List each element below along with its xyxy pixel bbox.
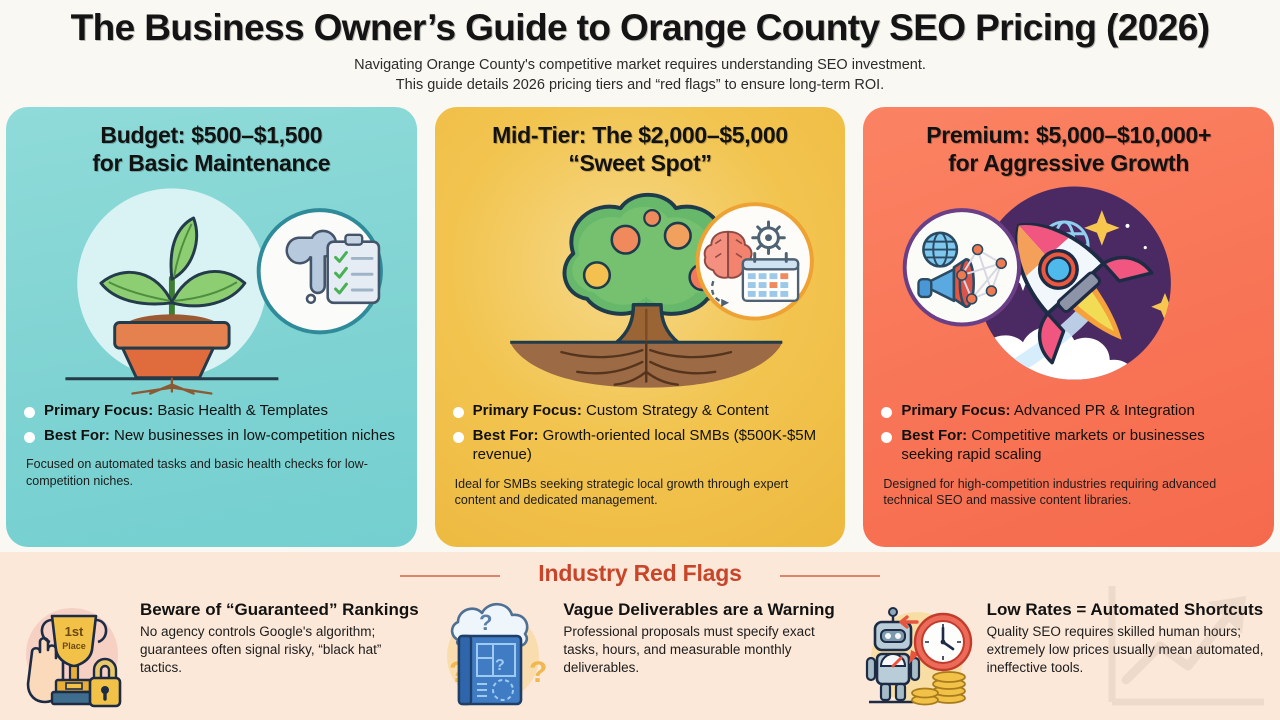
- red-flag-text: Beware of “Guaranteed” Rankings No agenc…: [140, 596, 423, 714]
- clipboard-icon: [328, 235, 379, 303]
- red-flags-title: Industry Red Flags: [538, 560, 741, 587]
- bullet-label: Best For:: [901, 427, 967, 444]
- bullet-label: Primary Focus:: [44, 402, 153, 419]
- tier-title-premium: Premium: $5,000–$10,000+ for Aggressive …: [881, 121, 1256, 181]
- bullet-value: Basic Health & Templates: [153, 402, 328, 419]
- tier-bullets-mid: Primary Focus: Custom Strategy & Content…: [453, 401, 828, 470]
- bullet-label: Primary Focus:: [473, 402, 582, 419]
- red-flag-item-guaranteed-rankings: 1st Place Beware of “Guaranteed” Ra: [10, 596, 423, 714]
- bullet-value: Advanced PR & Integration: [1011, 402, 1195, 419]
- red-flags-list: 1st Place Beware of “Guaranteed” Ra: [0, 596, 1280, 714]
- tier-title-line-1: Premium: $5,000–$10,000+: [881, 121, 1256, 149]
- bullet-dot-icon: [881, 432, 892, 443]
- bullet-text: Primary Focus: Basic Health & Templates: [44, 401, 328, 421]
- svg-text:?: ?: [495, 657, 505, 674]
- globe-small-icon: [924, 233, 958, 267]
- bullet-dot-icon: [24, 432, 35, 443]
- bullet-label: Best For:: [473, 427, 539, 444]
- header: The Business Owner’s Guide to Orange Cou…: [0, 0, 1280, 107]
- red-flag-item-vague-deliverables: ? ? ?: [433, 596, 846, 714]
- tier-note: Ideal for SMBs seeking strategic local g…: [453, 476, 828, 509]
- tier-bullets-premium: Primary Focus: Advanced PR & Integration…: [881, 401, 1256, 470]
- tier-title-line-2: for Aggressive Growth: [881, 149, 1256, 177]
- stop-hand-trophy-lock-icon: 1st Place: [10, 596, 130, 714]
- tier-note: Focused on automated tasks and basic hea…: [24, 456, 399, 489]
- red-flag-heading: Vague Deliverables are a Warning: [563, 600, 846, 620]
- svg-text:?: ?: [479, 610, 492, 635]
- bullet-text: Primary Focus: Custom Strategy & Content: [473, 401, 769, 421]
- page-title: The Business Owner’s Guide to Orange Cou…: [0, 0, 1280, 49]
- tier-note: Designed for high-competition industries…: [881, 476, 1256, 509]
- tier-title-line-1: Budget: $500–$1,500: [24, 121, 399, 149]
- tier-card-premium[interactable]: Premium: $5,000–$10,000+ for Aggressive …: [863, 107, 1274, 547]
- pricing-tier-cards: Budget: $500–$1,500 for Basic Maintenanc…: [0, 107, 1280, 547]
- red-flag-body: Professional proposals must specify exac…: [563, 623, 846, 677]
- lock-icon: [90, 659, 120, 706]
- bullet-dot-icon: [881, 407, 892, 418]
- bullet-item: Primary Focus: Custom Strategy & Content: [453, 401, 828, 421]
- robot-clock-coins-icon: [857, 596, 977, 714]
- bullet-label: Primary Focus:: [901, 402, 1010, 419]
- red-flags-header: Industry Red Flags: [0, 552, 1280, 596]
- subtitle-line-2: This guide details 2026 pricing tiers an…: [0, 75, 1280, 96]
- blueprint-icon: ?: [459, 636, 521, 704]
- bullet-text: Best For: Growth-oriented local SMBs ($5…: [473, 426, 828, 465]
- trophy-badge-line-2: Place: [62, 641, 86, 651]
- bullet-dot-icon: [453, 432, 464, 443]
- subtitle-line-1: Navigating Orange County's competitive m…: [0, 55, 1280, 76]
- bullet-item: Best For: Growth-oriented local SMBs ($5…: [453, 426, 828, 465]
- bullet-item: Best For: New businesses in low-competit…: [24, 426, 399, 446]
- bullet-item: Primary Focus: Advanced PR & Integration: [881, 401, 1256, 421]
- tier-title-line-2: “Sweet Spot”: [453, 149, 828, 177]
- gear-icon: [752, 222, 784, 254]
- trophy-badge-line-1: 1st: [65, 624, 84, 639]
- tier-title-budget: Budget: $500–$1,500 for Basic Maintenanc…: [24, 121, 399, 181]
- tier-card-budget[interactable]: Budget: $500–$1,500 for Basic Maintenanc…: [6, 107, 417, 547]
- divider-left: [400, 575, 500, 577]
- bullet-value: New businesses in low-competition niches: [110, 427, 395, 444]
- bullet-label: Best For:: [44, 427, 110, 444]
- bullet-text: Primary Focus: Advanced PR & Integration: [901, 401, 1195, 421]
- tier-title-line-2: for Basic Maintenance: [24, 149, 399, 177]
- fruit-tree-icon: [453, 183, 828, 395]
- tier-title-mid: Mid-Tier: The $2,000–$5,000 “Sweet Spot”: [453, 121, 828, 181]
- bullet-dot-icon: [453, 407, 464, 418]
- red-flag-body: No agency controls Google's algorithm; g…: [140, 623, 423, 677]
- bullet-text: Best For: New businesses in low-competit…: [44, 426, 395, 446]
- tier-bullets-budget: Primary Focus: Basic Health & Templates …: [24, 401, 399, 450]
- tier-card-mid[interactable]: Mid-Tier: The $2,000–$5,000 “Sweet Spot”: [435, 107, 846, 547]
- seedling-in-pot-icon: [24, 183, 399, 395]
- red-flags-section: Industry Red Flags: [0, 552, 1280, 720]
- divider-right: [780, 575, 880, 577]
- bullet-value: Custom Strategy & Content: [582, 402, 769, 419]
- svg-text:?: ?: [529, 656, 547, 689]
- bullet-item: Best For: Competitive markets or busines…: [881, 426, 1256, 465]
- blueprint-cloud-question-icon: ? ? ?: [433, 596, 553, 714]
- calendar-icon: [743, 254, 798, 301]
- rocket-launch-icon: [881, 183, 1256, 395]
- page-subtitle: Navigating Orange County's competitive m…: [0, 55, 1280, 96]
- bullet-dot-icon: [24, 407, 35, 418]
- bullet-text: Best For: Competitive markets or busines…: [901, 426, 1256, 465]
- infographic-page: The Business Owner’s Guide to Orange Cou…: [0, 0, 1280, 720]
- red-flag-heading: Beware of “Guaranteed” Rankings: [140, 600, 423, 620]
- red-flag-text: Vague Deliverables are a Warning Profess…: [563, 596, 846, 714]
- bullet-item: Primary Focus: Basic Health & Templates: [24, 401, 399, 421]
- tier-title-line-1: Mid-Tier: The $2,000–$5,000: [453, 121, 828, 149]
